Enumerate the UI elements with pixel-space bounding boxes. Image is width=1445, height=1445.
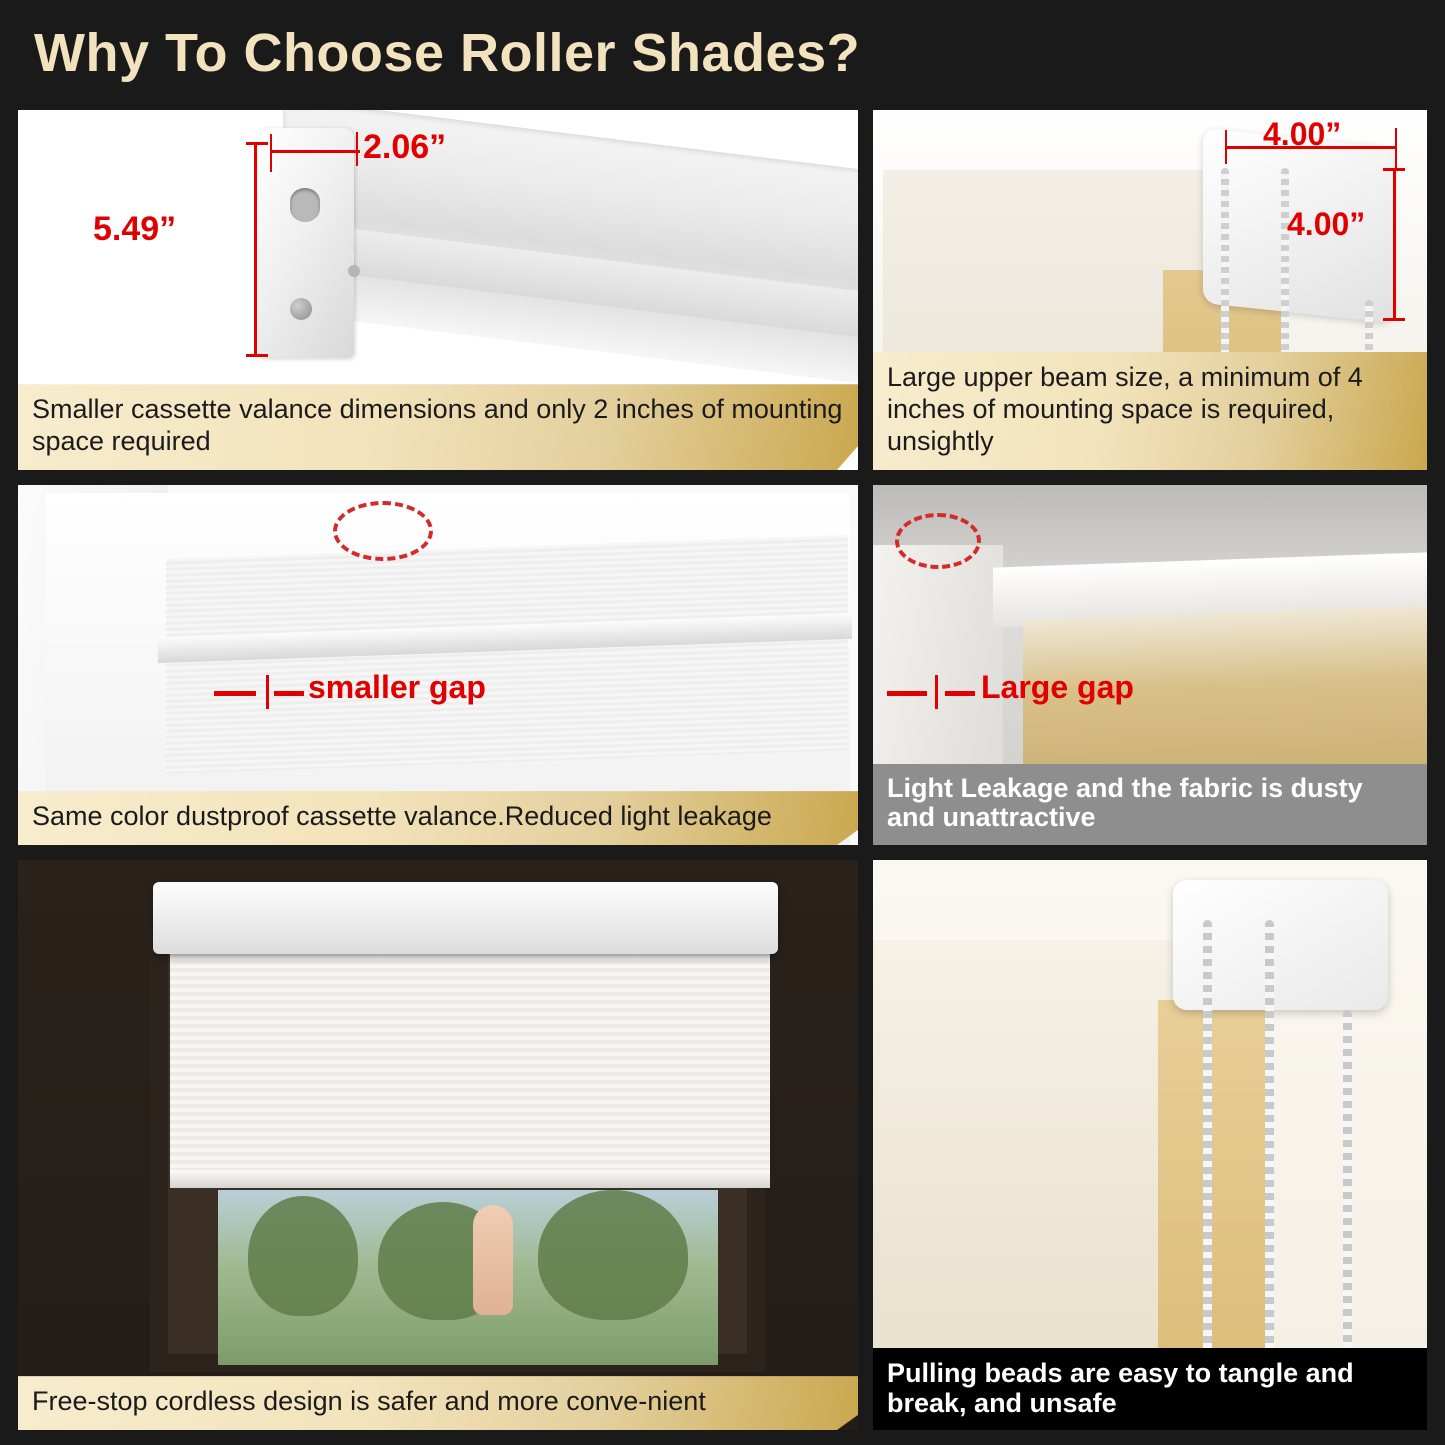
gap-tick (935, 675, 938, 709)
cordless-shade-fabric (170, 948, 770, 1178)
panel-middle-left: smaller gap Same color dustproof cassett… (18, 485, 858, 845)
end-cap-screw-small (348, 265, 360, 277)
gap-arrow-right (274, 691, 304, 696)
panel-3-image: smaller gap Same color dustproof cassett… (18, 485, 858, 845)
panel-2-caption: Large upper beam size, a minimum of 4 in… (873, 352, 1427, 470)
panel-4-caption: Light Leakage and the fabric is dusty an… (873, 764, 1427, 845)
tree-left (248, 1196, 358, 1316)
panel-grid: 2.06” 5.49” Smaller cassette valance dim… (18, 110, 1427, 1430)
infographic-page: Why To Choose Roller Shades? 2.06” (0, 0, 1445, 1445)
beam-width-label: 4.00” (1263, 116, 1341, 153)
beam-width-tick-right (1395, 128, 1397, 168)
beam-depth-tick-bottom (1383, 318, 1405, 321)
panel-1-caption: Smaller cassette valance dimensions and … (18, 384, 858, 470)
width-dimension-label: 2.06” (363, 128, 446, 167)
height-dimension-label: 5.49” (93, 210, 176, 249)
panel-bottom-left: Free-stop cordless design is safer and m… (18, 860, 858, 1430)
height-dimension-line (254, 142, 257, 357)
beam-depth-tick-top (1383, 168, 1405, 171)
panel-4-image: Large gap Light Leakage and the fabric i… (873, 485, 1427, 845)
valance-end-cap (258, 128, 354, 358)
panel-bottom-right: Pulling beads are easy to tangle and bre… (873, 860, 1427, 1430)
width-arrow-line (270, 150, 360, 153)
gap-arrow-left (214, 691, 256, 696)
beam-depth-label: 4.00” (1287, 206, 1365, 243)
panel-5-image: Free-stop cordless design is safer and m… (18, 860, 858, 1430)
shade-fabric-accent (1158, 1000, 1273, 1370)
panel-1-image: 2.06” 5.49” Smaller cassette valance dim… (18, 110, 858, 470)
bead-chain-back (1265, 920, 1274, 1370)
width-tick-left (270, 134, 272, 172)
gap-tick (266, 675, 269, 709)
shade-bottom-bar (170, 1170, 770, 1188)
beam-depth-line (1393, 170, 1396, 320)
gap-callout-label: smaller gap (308, 669, 486, 706)
panel-5-caption: Free-stop cordless design is safer and m… (18, 1376, 858, 1430)
gap-arrow-right (945, 691, 975, 696)
end-cap-screw (290, 298, 312, 320)
panel-top-left: 2.06” 5.49” Smaller cassette valance dim… (18, 110, 858, 470)
cassette-valance (153, 882, 778, 954)
panel-top-right: 4.00” 4.00” Large upper beam size, a min… (873, 110, 1427, 470)
height-tick-top (246, 142, 268, 145)
hand (473, 1205, 513, 1315)
height-tick-bottom (246, 354, 268, 357)
panel-middle-right: Large gap Light Leakage and the fabric i… (873, 485, 1427, 845)
shade-fabric (873, 940, 1203, 1370)
highlight-ellipse (895, 513, 981, 569)
panel-2-image: 4.00” 4.00” Large upper beam size, a min… (873, 110, 1427, 470)
page-title: Why To Choose Roller Shades? (34, 22, 1034, 84)
end-cap-hole (290, 188, 320, 222)
gap-arrow-left (887, 691, 927, 696)
bead-chain-side (1343, 1010, 1352, 1370)
panel-6-caption: Pulling beads are easy to tangle and bre… (873, 1348, 1427, 1430)
tree-right (538, 1190, 688, 1320)
panel-6-image: Pulling beads are easy to tangle and bre… (873, 860, 1427, 1430)
gap-callout-label: Large gap (981, 669, 1134, 706)
panel-3-caption: Same color dustproof cassette valance.Re… (18, 791, 858, 845)
bead-chain-front (1203, 920, 1212, 1370)
highlight-ellipse (333, 501, 433, 561)
width-tick-right (356, 132, 358, 166)
